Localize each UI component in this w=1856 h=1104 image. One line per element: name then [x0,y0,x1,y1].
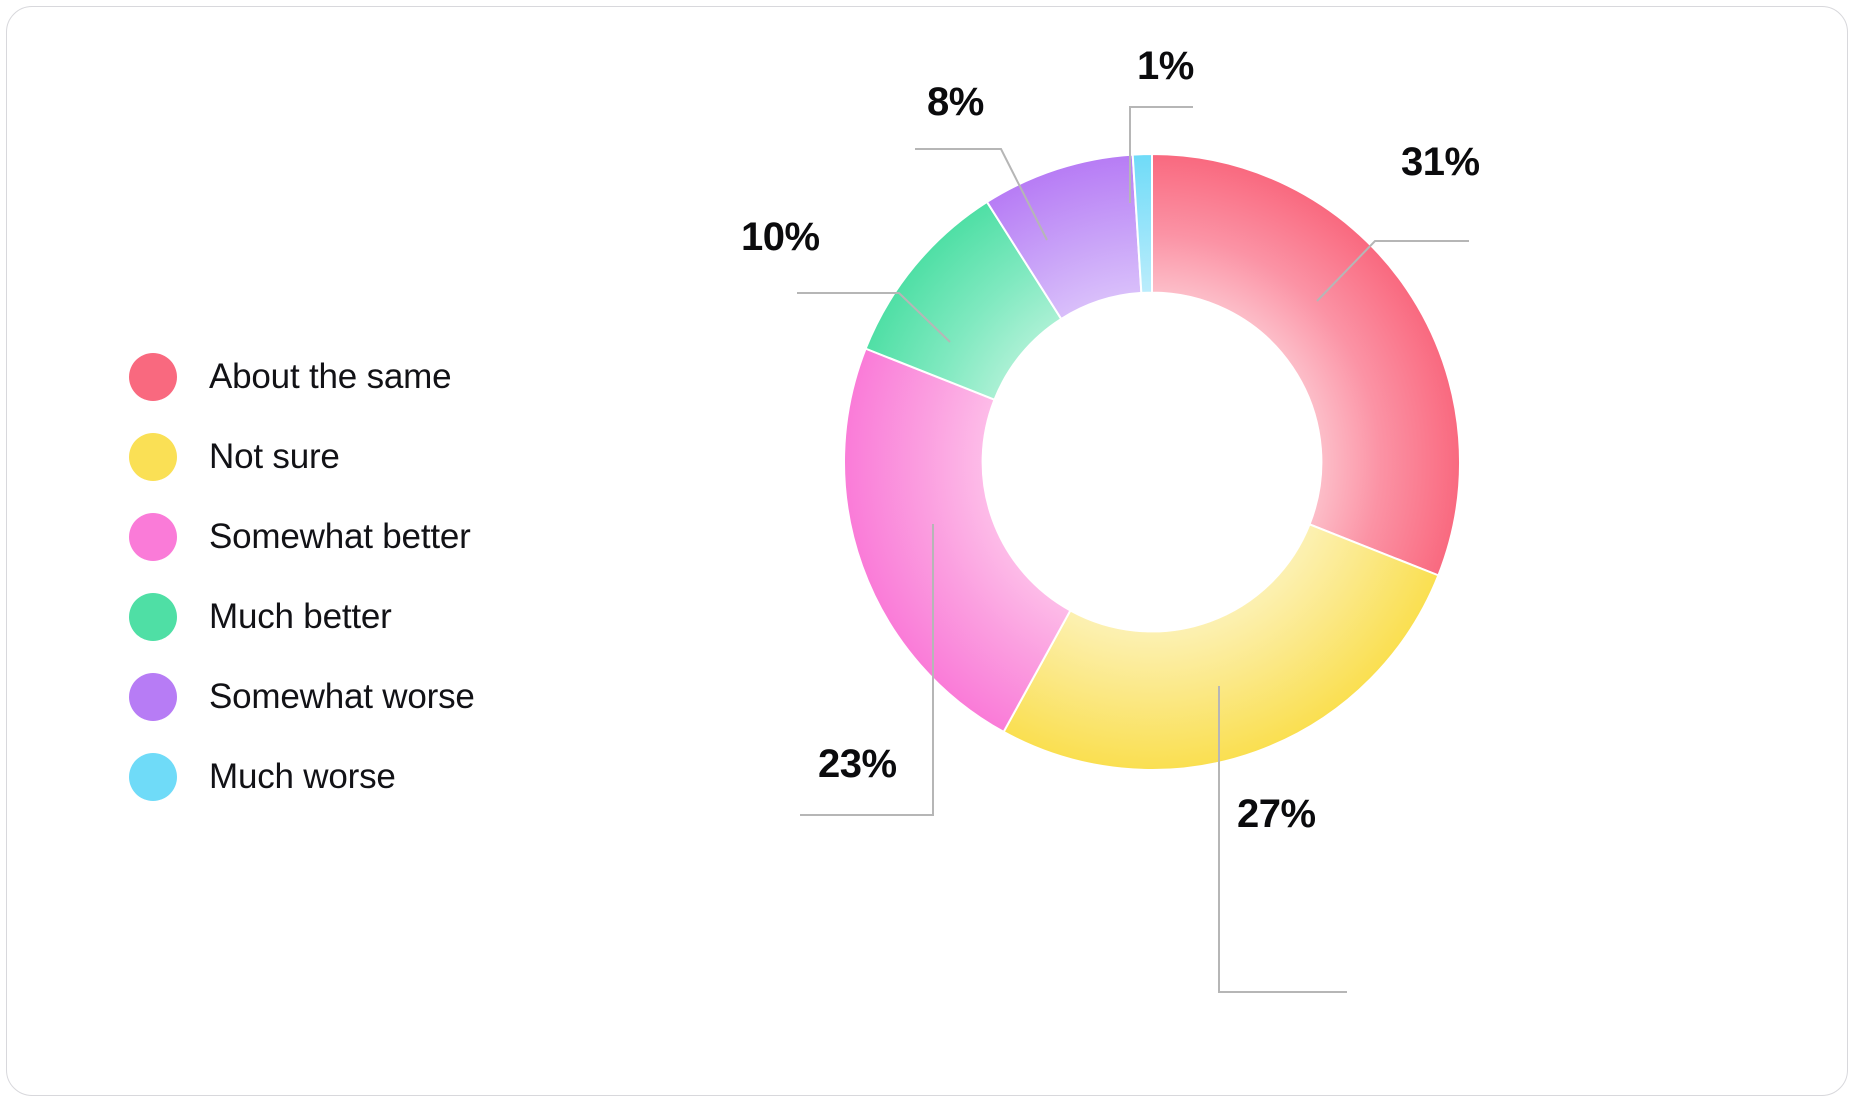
callout-label-31: 31% [1401,140,1480,185]
legend-item-about-the-same[interactable]: About the same [129,337,649,417]
legend-item-much-better[interactable]: Much better [129,577,649,657]
legend-item-not-sure[interactable]: Not sure [129,417,649,497]
legend-item-label: Much worse [209,757,396,797]
callout-label-10: 10% [741,215,820,260]
donut-slices [844,154,1460,770]
legend-item-somewhat-worse[interactable]: Somewhat worse [129,657,649,737]
slice-not-sure[interactable] [1004,524,1439,770]
donut-chart-svg [797,7,1848,1096]
callout-label-27: 27% [1237,792,1316,837]
legend-item-label: Somewhat worse [209,677,475,717]
legend-swatch-icon [129,353,177,401]
legend-item-label: Somewhat better [209,517,471,557]
chart-legend: About the same Not sure Somewhat better … [129,337,649,817]
legend-item-label: Not sure [209,437,340,477]
legend-swatch-icon [129,513,177,561]
legend-item-label: Much better [209,597,392,637]
callout-label-8: 8% [927,80,984,125]
legend-swatch-icon [129,673,177,721]
legend-swatch-icon [129,753,177,801]
callout-label-23: 23% [818,742,897,787]
legend-item-much-worse[interactable]: Much worse [129,737,649,817]
chart-card: About the same Not sure Somewhat better … [6,6,1848,1096]
callout-label-1: 1% [1137,44,1194,89]
legend-swatch-icon [129,433,177,481]
slice-about-the-same[interactable] [1152,154,1460,575]
legend-item-somewhat-better[interactable]: Somewhat better [129,497,649,577]
legend-item-label: About the same [209,357,451,397]
legend-swatch-icon [129,593,177,641]
donut-chart: 31% 27% 23% 10% 8% 1% [797,7,1848,1096]
